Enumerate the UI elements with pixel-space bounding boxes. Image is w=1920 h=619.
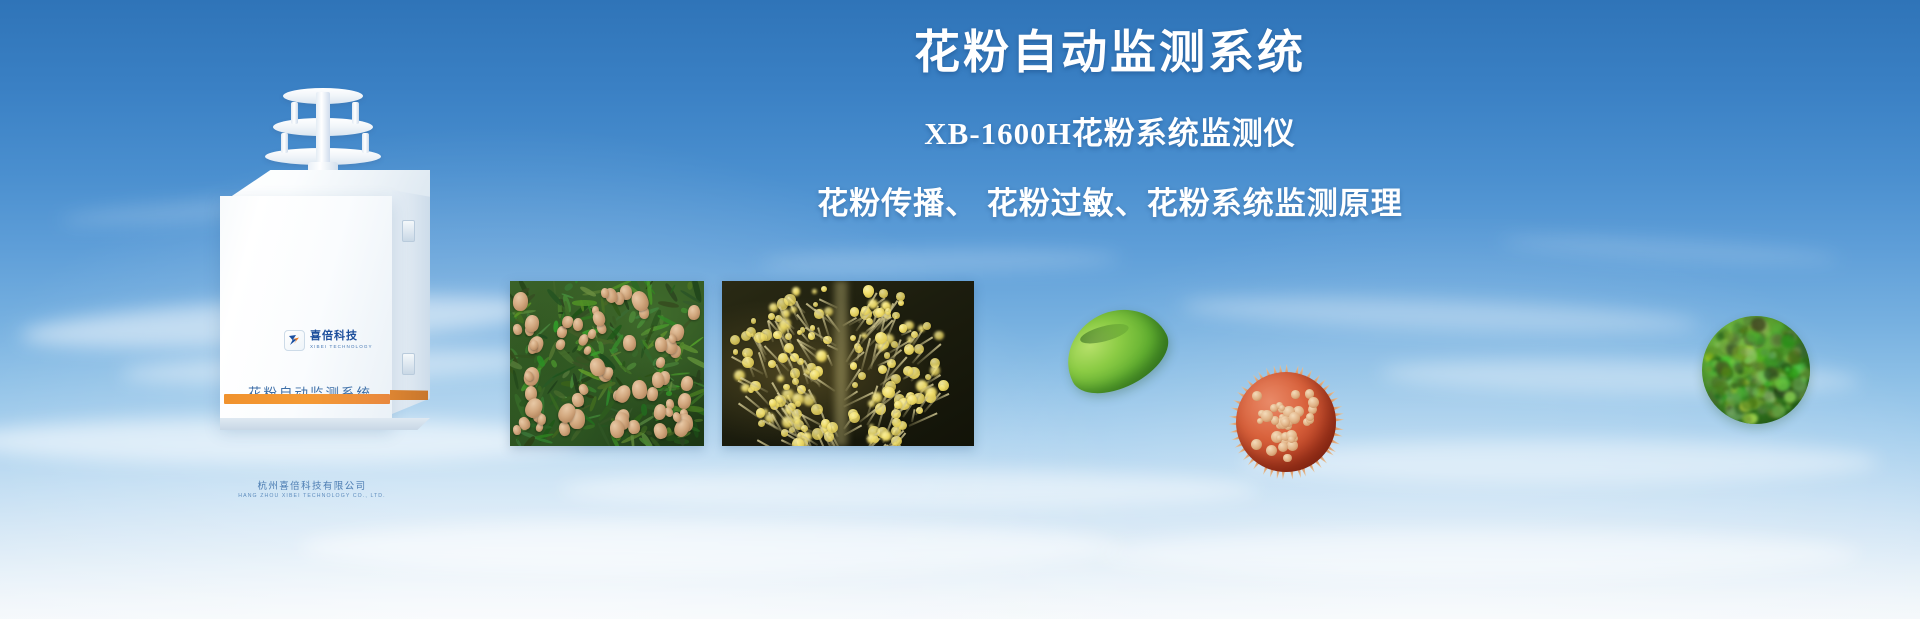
catkin-anther xyxy=(884,352,890,358)
catkin-anther xyxy=(784,343,794,353)
photo-conifer-pollen-cones: 柏树雄球花（花粉源） xyxy=(510,281,704,446)
catkin-anther xyxy=(769,303,778,312)
cloud-wisp xyxy=(1180,291,1701,339)
banner-headline: 花粉自动监测系统 xyxy=(520,24,1700,82)
catkin-anther xyxy=(790,306,797,313)
cloud-wisp xyxy=(560,470,1260,510)
catkin-anther xyxy=(879,289,888,298)
inlet-support-rod xyxy=(352,102,359,124)
pollen-surface-patch xyxy=(1752,389,1759,396)
catkin-anther xyxy=(769,399,776,406)
catkin-anther xyxy=(816,350,827,361)
device-company-cn: 杭州喜倍科技有限公司 xyxy=(220,478,404,492)
pollen-monitoring-banner: 花粉自动监测系统 XB-1600H花粉系统监测仪 花粉传播、 花粉过敏、花粉系统… xyxy=(0,0,1920,619)
catkin-anther xyxy=(898,300,904,306)
cloud-wisp xyxy=(300,520,1120,574)
pollen-surface-patch xyxy=(1740,349,1745,354)
pollen-cone xyxy=(631,379,648,399)
pollen-bump xyxy=(1291,390,1300,399)
pollen-surface-patch xyxy=(1719,399,1723,403)
device-company-en: HANG ZHOU XIBEI TECHNOLOGY CO., LTD. xyxy=(220,493,404,499)
cabinet-accent-stripe xyxy=(224,394,390,404)
photo-catkin-flower: 柔荑花序花药（花粉源） xyxy=(722,281,974,446)
grass-pollen-grain-illustration xyxy=(1051,292,1179,407)
banner-tagline: 花粉传播、 花粉过敏、花粉系统监测原理 xyxy=(520,184,1700,224)
pollen-surface-patch xyxy=(1713,368,1717,372)
pollen-bump xyxy=(1308,397,1319,408)
pollen-surface-patch xyxy=(1784,391,1796,403)
pollen-bump xyxy=(1251,439,1262,450)
catkin-anther xyxy=(741,384,750,393)
inlet-support-rod xyxy=(362,133,369,153)
pollen-bump xyxy=(1288,436,1295,443)
pollen-bump xyxy=(1279,405,1285,411)
pollen-surface-patch xyxy=(1715,343,1719,347)
catkin-anther xyxy=(904,321,913,330)
pollen-bump xyxy=(1278,442,1288,452)
xibei-logo-icon xyxy=(284,330,305,351)
banner-text-block: 花粉自动监测系统 XB-1600H花粉系统监测仪 花粉传播、 花粉过敏、花粉系统… xyxy=(520,24,1700,224)
catkin-anther xyxy=(872,392,883,403)
catkin-anther xyxy=(784,294,796,306)
catkin-anther xyxy=(812,289,817,294)
pollen-surface-patch xyxy=(1781,334,1795,348)
pollen-surface-patch xyxy=(1785,404,1791,410)
pollen-bump xyxy=(1252,391,1262,401)
pollen-surface-patch xyxy=(1721,376,1726,381)
pollen-surface-patch xyxy=(1741,395,1757,411)
catkin-anther xyxy=(768,313,775,320)
catkin-anther xyxy=(792,393,804,405)
catkin-anther xyxy=(760,411,765,416)
pollen-surface-patch xyxy=(1785,367,1791,373)
mossy-pollen-sphere-illustration xyxy=(1702,316,1810,424)
device-brand-logo: 喜倍科技 XIBEI TECHNOLOGY xyxy=(284,330,373,351)
pollen-surface-patch xyxy=(1751,317,1766,332)
brand-name-cn: 喜倍科技 xyxy=(310,331,373,342)
pollen-surface-patch xyxy=(1772,405,1786,419)
cloud-wisp xyxy=(1100,530,1860,578)
catkin-anther xyxy=(849,412,860,423)
catkin-anther xyxy=(892,312,899,319)
catkin-anther xyxy=(768,360,776,368)
catkin-anther xyxy=(883,387,895,399)
pollen-surface-patch xyxy=(1800,368,1810,380)
catkin-anther xyxy=(938,380,949,391)
catkin-anther xyxy=(867,434,876,443)
pollen-bump xyxy=(1261,410,1273,422)
cloud-wisp xyxy=(1500,231,1841,269)
brand-name-en: XIBEI TECHNOLOGY xyxy=(310,345,373,350)
cabinet-base xyxy=(220,418,430,430)
cabinet-front-panel: 喜倍科技 XIBEI TECHNOLOGY 花粉自动监测系统 XB-1600H … xyxy=(220,196,392,426)
banner-subheadline: XB-1600H花粉系统监测仪 xyxy=(520,114,1700,154)
catkin-anther xyxy=(801,425,808,432)
catkin-anther xyxy=(875,332,887,344)
catkin-anther xyxy=(930,365,941,376)
pollen-surface-patch xyxy=(1727,332,1741,346)
pollen-surface-patch xyxy=(1788,350,1802,364)
pollen-bump xyxy=(1283,454,1291,462)
pollen-surface-patch xyxy=(1730,359,1734,363)
pollen-surface-patch xyxy=(1705,346,1718,359)
catkin-anther xyxy=(868,299,878,309)
pollen-surface-patch xyxy=(1768,352,1775,359)
pollen-bump xyxy=(1281,418,1290,427)
pollen-bump xyxy=(1266,445,1277,456)
catkin-anther xyxy=(923,322,931,330)
cabinet-accent-stripe-side xyxy=(390,390,428,400)
pollen-surface-patch xyxy=(1778,347,1784,353)
ragweed-pollen-spiky-illustration xyxy=(1222,358,1350,486)
inlet-support-rod xyxy=(281,133,288,153)
pollen-cone xyxy=(573,317,584,330)
catkin-anther xyxy=(863,285,875,297)
inlet-support-rod xyxy=(291,102,298,124)
conifer-needle xyxy=(572,300,597,306)
pollen-surface-patch xyxy=(1758,399,1765,406)
catkin-anther xyxy=(850,307,859,316)
pollen-surface-patch xyxy=(1725,391,1729,395)
cabinet-latch-lower[interactable] xyxy=(402,353,415,375)
pollen-core xyxy=(1236,372,1336,472)
pollen-surface-patch xyxy=(1706,366,1712,372)
pollen-surface-patch xyxy=(1732,385,1736,389)
catkin-anther xyxy=(733,349,738,354)
conifer-needle xyxy=(666,391,672,396)
cloud-wisp xyxy=(760,247,1120,275)
catkin-anther xyxy=(934,331,943,340)
pollen-bump xyxy=(1289,412,1300,423)
pollen-cone xyxy=(623,334,637,351)
pollen-surface-patch xyxy=(1712,389,1716,393)
cabinet-latch-upper[interactable] xyxy=(402,220,415,242)
catkin-anther xyxy=(810,370,819,379)
pollen-surface-patch xyxy=(1728,393,1741,406)
catkin-anther xyxy=(778,353,788,363)
catkin-anther xyxy=(885,308,891,314)
catkin-anther xyxy=(852,382,858,388)
pollen-cone xyxy=(652,372,665,388)
catkin-anther xyxy=(925,374,931,380)
catkin-anther xyxy=(783,384,790,391)
catkin-anther xyxy=(827,422,838,433)
catkin-anther xyxy=(907,395,917,405)
pollen-surface-patch xyxy=(1746,375,1753,382)
pollen-surface-patch xyxy=(1706,380,1711,385)
pollen-monitor-device: 喜倍科技 XIBEI TECHNOLOGY 花粉自动监测系统 XB-1600H … xyxy=(180,78,480,428)
catkin-anther xyxy=(896,292,905,301)
pollen-surface-patch xyxy=(1757,337,1765,345)
pollen-surface-patch xyxy=(1746,416,1752,422)
